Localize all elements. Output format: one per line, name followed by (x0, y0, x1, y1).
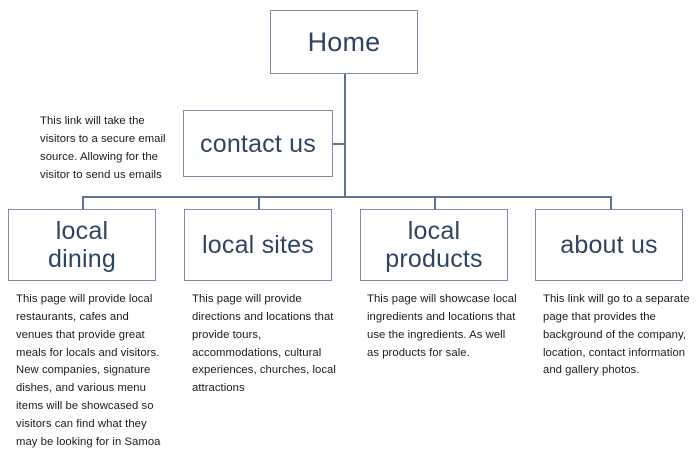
annotation-local-dining: This page will provide local restaurants… (16, 291, 166, 452)
annotation-about-us: This link will go to a separate page tha… (543, 291, 693, 380)
connector-drop-local-products (434, 196, 436, 210)
node-local-sites[interactable]: local sites (184, 209, 332, 281)
node-home[interactable]: Home (270, 10, 418, 74)
connector-drop-local-dining (82, 196, 84, 210)
connector-horizontal-bus (82, 196, 612, 198)
connector-contact-stub (333, 143, 345, 145)
connector-drop-local-sites (258, 196, 260, 210)
sitemap-diagram-canvas: Home contact us This link will take the … (0, 0, 700, 454)
node-contact-us[interactable]: contact us (183, 110, 333, 177)
node-local-products[interactable]: local products (360, 209, 508, 281)
connector-drop-about-us (610, 196, 612, 210)
annotation-local-sites: This page will provide directions and lo… (192, 291, 342, 398)
node-about-us[interactable]: about us (535, 209, 683, 281)
annotation-contact-us: This link will take the visitors to a se… (40, 113, 180, 184)
annotation-local-products: This page will showcase local ingredient… (367, 291, 517, 362)
node-local-dining[interactable]: local dining (8, 209, 156, 281)
connector-home-trunk (344, 74, 346, 197)
